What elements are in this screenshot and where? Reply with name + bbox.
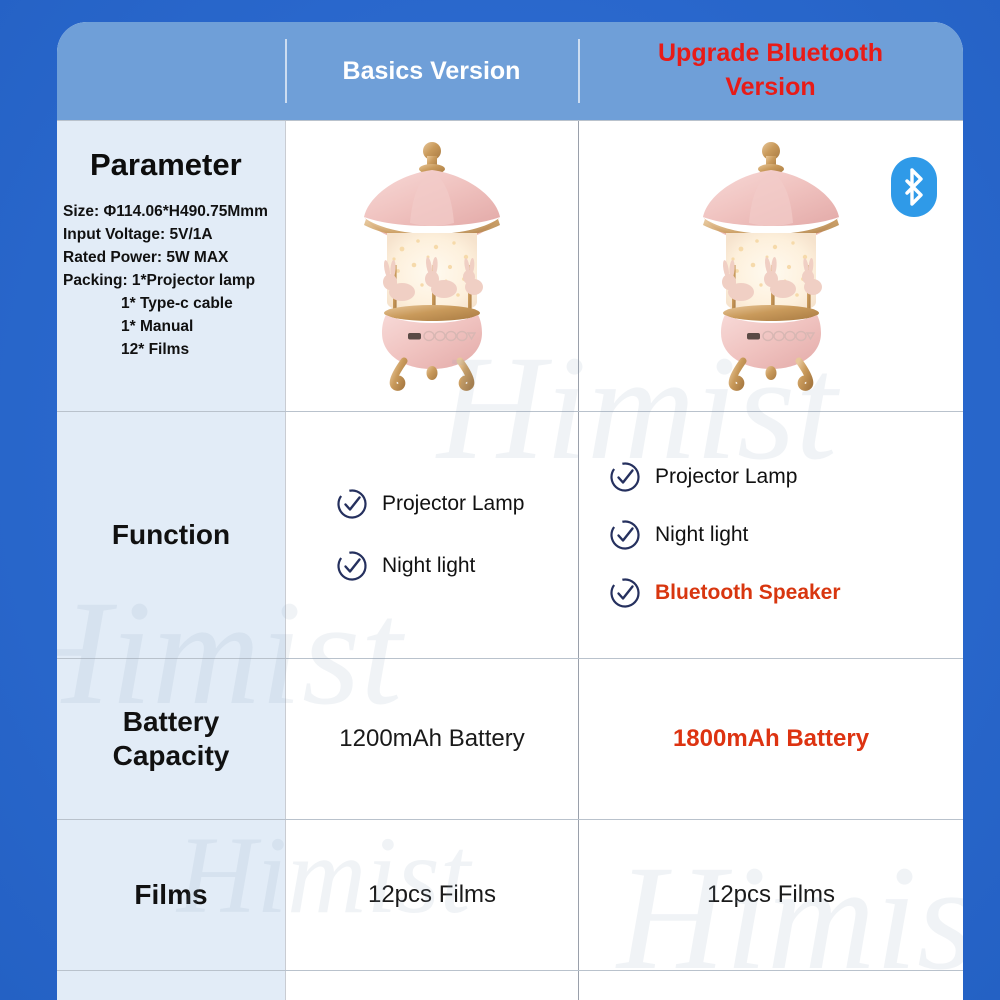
bluetooth-glyph-icon (901, 168, 927, 206)
spec-item: 1* Type-c cable (63, 293, 268, 316)
table-row-films: Films 12pcs Films 12pcs Films (57, 819, 963, 970)
battery-label-cell: Battery Capacity (57, 659, 285, 819)
check-circle-icon (336, 550, 368, 582)
spec-item: 1* Manual (63, 316, 268, 339)
basics-films-cell: 12pcs Films (285, 820, 578, 970)
next-label-cell (57, 971, 285, 1000)
upgrade-films-cell: 12pcs Films (578, 820, 963, 970)
feature-item: Night light (591, 519, 963, 551)
feature-list: Projector Lamp Night light (286, 412, 578, 658)
parameter-label-cell: Parameter Size: Φ114.06*H490.75Mmm Input… (57, 121, 285, 411)
basics-product-image-cell (285, 121, 578, 411)
feature-item: Projector Lamp (591, 461, 963, 493)
feature-item: Night light (298, 550, 578, 582)
carousel-projector-lamp-icon (671, 137, 871, 395)
table-row-parameter: Parameter Size: Φ114.06*H490.75Mmm Input… (57, 120, 963, 411)
feature-item: Projector Lamp (298, 488, 578, 520)
comparison-table: Himist Himist Himist Himist Basics Versi… (57, 22, 963, 1000)
table-row-function: Function Projector Lamp Night light (57, 411, 963, 658)
parameter-title: Parameter (57, 147, 242, 183)
parameter-spec-list: Size: Φ114.06*H490.75Mmm Input Voltage: … (57, 201, 268, 362)
header-cell-basics: Basics Version (285, 22, 578, 120)
check-circle-icon (609, 461, 641, 493)
carousel-projector-lamp-icon (332, 137, 532, 395)
spec-item: Packing: 1*Projector lamp (63, 270, 268, 293)
feature-label: Night light (655, 523, 748, 547)
bluetooth-icon (891, 157, 937, 217)
row-label: Films (134, 878, 207, 912)
header-upgrade-line2: Version (725, 73, 815, 101)
check-circle-icon (609, 519, 641, 551)
spec-item: Size: Φ114.06*H490.75Mmm (63, 201, 268, 224)
upgrade-next-cell (578, 971, 963, 1000)
check-circle-icon (336, 488, 368, 520)
feature-item: Bluetooth Speaker (591, 577, 963, 609)
feature-label: Projector Lamp (382, 492, 524, 516)
upgrade-product-image-cell (578, 121, 963, 411)
table-row-battery: Battery Capacity 1200mAh Battery 1800mAh… (57, 658, 963, 819)
spec-item: Input Voltage: 5V/1A (63, 224, 268, 247)
feature-list: Projector Lamp Night light Bluetooth Spe… (579, 412, 963, 658)
table-row-next (57, 970, 963, 1000)
feature-label: Bluetooth Speaker (655, 581, 841, 605)
films-label-cell: Films (57, 820, 285, 970)
basics-function-cell: Projector Lamp Night light (285, 412, 578, 658)
basics-battery-cell: 1200mAh Battery (285, 659, 578, 819)
films-value: 12pcs Films (368, 881, 496, 909)
basics-next-cell (285, 971, 578, 1000)
row-label: Battery (123, 705, 219, 739)
films-value: 12pcs Films (707, 881, 835, 909)
header-cell-parameter (57, 22, 285, 120)
function-label-cell: Function (57, 412, 285, 658)
feature-label: Night light (382, 554, 475, 578)
row-label: Function (112, 518, 230, 552)
table-header: Basics Version Upgrade Bluetooth Version (57, 22, 963, 120)
upgrade-battery-cell: 1800mAh Battery (578, 659, 963, 819)
spec-item: 12* Films (63, 339, 268, 362)
check-circle-icon (609, 577, 641, 609)
header-upgrade-line1: Upgrade Bluetooth (658, 39, 883, 67)
header-cell-upgrade: Upgrade Bluetooth Version (578, 22, 963, 120)
spec-item: Rated Power: 5W MAX (63, 247, 268, 270)
battery-value: 1800mAh Battery (673, 725, 869, 753)
upgrade-function-cell: Projector Lamp Night light Bluetooth Spe… (578, 412, 963, 658)
row-label: Capacity (113, 739, 230, 773)
feature-label: Projector Lamp (655, 465, 797, 489)
battery-value: 1200mAh Battery (339, 725, 524, 753)
